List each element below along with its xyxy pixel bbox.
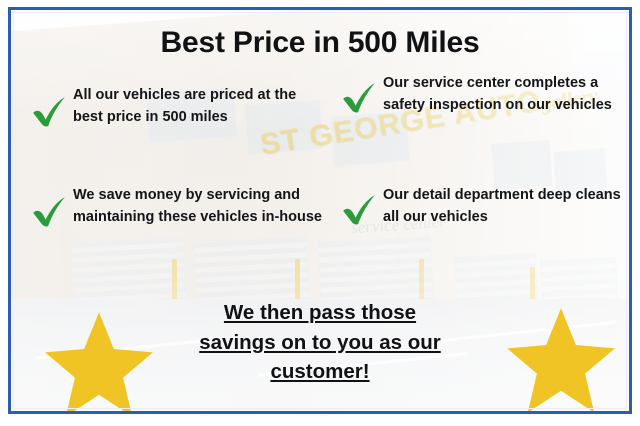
- bullet-savings: We save money by servicing and maintaini…: [29, 184, 329, 232]
- bullet-detail: Our detail department deep cleans all ou…: [339, 184, 632, 230]
- benefits-list: All our vehicles are priced at the best …: [11, 72, 629, 262]
- tagline-line-2: savings on to you as our: [199, 331, 441, 354]
- green-check-icon: [339, 78, 379, 118]
- green-check-icon: [29, 192, 69, 232]
- bullet-pricing: All our vehicles are priced at the best …: [29, 84, 329, 132]
- bullet-savings-label: We save money by servicing and maintaini…: [73, 184, 329, 228]
- gold-star-icon: [503, 306, 619, 414]
- page-title: Best Price in 500 Miles: [11, 26, 629, 60]
- tagline-line-1: We then pass those: [224, 301, 416, 324]
- green-check-icon: [29, 92, 69, 132]
- bullet-service-label: Our service center completes a safety in…: [383, 72, 632, 116]
- tagline-line-3: customer!: [270, 360, 369, 383]
- gold-star-icon: [41, 310, 157, 414]
- bullet-pricing-label: All our vehicles are priced at the best …: [73, 84, 329, 128]
- bullet-detail-label: Our detail department deep cleans all ou…: [383, 184, 632, 228]
- green-check-icon: [339, 190, 379, 230]
- ad-frame: ST GEORGE AUTOgallery service center Bes…: [8, 7, 632, 414]
- tagline: We then pass those savings on to you as …: [131, 298, 509, 387]
- bullet-service: Our service center completes a safety in…: [339, 72, 632, 118]
- ad-content: Best Price in 500 Miles All our vehicles…: [11, 10, 629, 411]
- best-price-advertisement: ST GEORGE AUTOgallery service center Bes…: [0, 0, 640, 426]
